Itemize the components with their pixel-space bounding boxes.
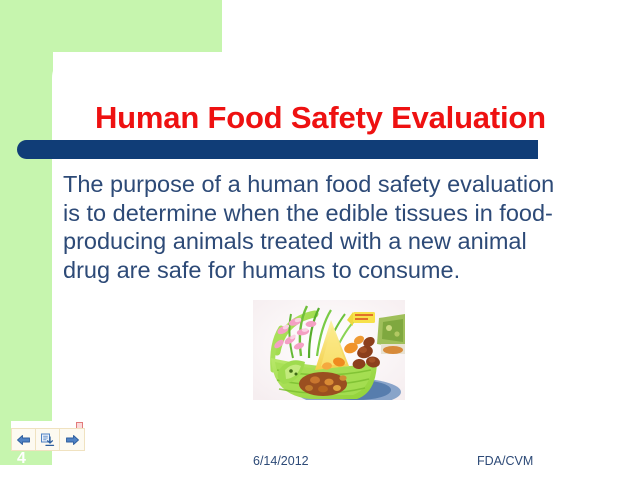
page-title: Human Food Safety Evaluation <box>95 100 595 136</box>
body-line: drug are safe for humans to consume. <box>63 256 603 285</box>
footer-organization: FDA/CVM <box>477 454 533 468</box>
footer-date: 6/14/2012 <box>253 454 309 468</box>
body-line: producing animals treated with a new ani… <box>63 227 603 256</box>
slide-number: 4 <box>17 450 26 468</box>
slide-body-text: The purpose of a human food safety evalu… <box>63 170 603 284</box>
body-line: is to determine when the edible tissues … <box>63 199 603 228</box>
slide-menu-icon <box>40 433 55 447</box>
slide-navigation-toolbar[interactable] <box>11 428 85 451</box>
body-line: The purpose of a human food safety evalu… <box>63 170 603 199</box>
slide-menu-button[interactable] <box>36 429 60 450</box>
green-top-panel <box>0 0 222 52</box>
title-underline-bar <box>17 140 538 159</box>
presentation-slide: Human Food Safety Evaluation The purpose… <box>0 0 640 480</box>
back-arrow-icon <box>16 434 31 446</box>
forward-arrow-icon <box>65 434 80 446</box>
previous-slide-button[interactable] <box>12 429 36 450</box>
next-slide-button[interactable] <box>60 429 84 450</box>
food-platter-photo <box>253 300 405 400</box>
green-side-panel <box>0 0 53 465</box>
